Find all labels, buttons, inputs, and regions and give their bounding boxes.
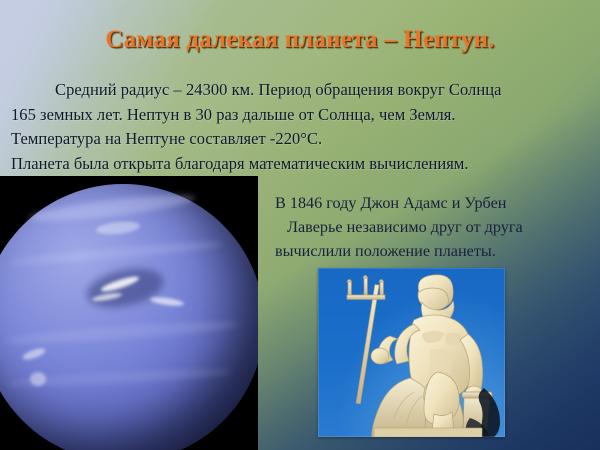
slide-body-text: Средний радиус – 24300 км. Период обраще… [11,78,591,176]
body-line-3: Температура на Нептуне составляет -220°С… [11,127,591,152]
neptune-planet-photo [0,176,258,450]
body-line-1: Средний радиус – 24300 км. Период обраще… [11,78,591,103]
note-line-3: вычислили положение планеты. [275,239,595,263]
slide-note-text: В 1846 году Джон Адамс и Урбен Лаверье н… [275,191,595,263]
trident-icon [347,276,385,404]
note-line-1: В 1846 году Джон Адамс и Урбен [275,191,595,215]
slide-title: Самая далекая планета – Нептун. [0,26,600,54]
body-line-2: 165 земных лет. Нептун в 30 раз дальше о… [11,103,591,128]
neptune-statue-photo [318,268,505,437]
body-line-4: Планета была открыта благодаря математич… [11,152,591,177]
statue-figure-graphic [318,268,505,437]
note-line-2: Лаверье независимо друг от друга [275,215,595,239]
presentation-slide: Самая далекая планета – Нептун. Средний … [0,0,600,450]
statue-plinth [374,428,482,437]
